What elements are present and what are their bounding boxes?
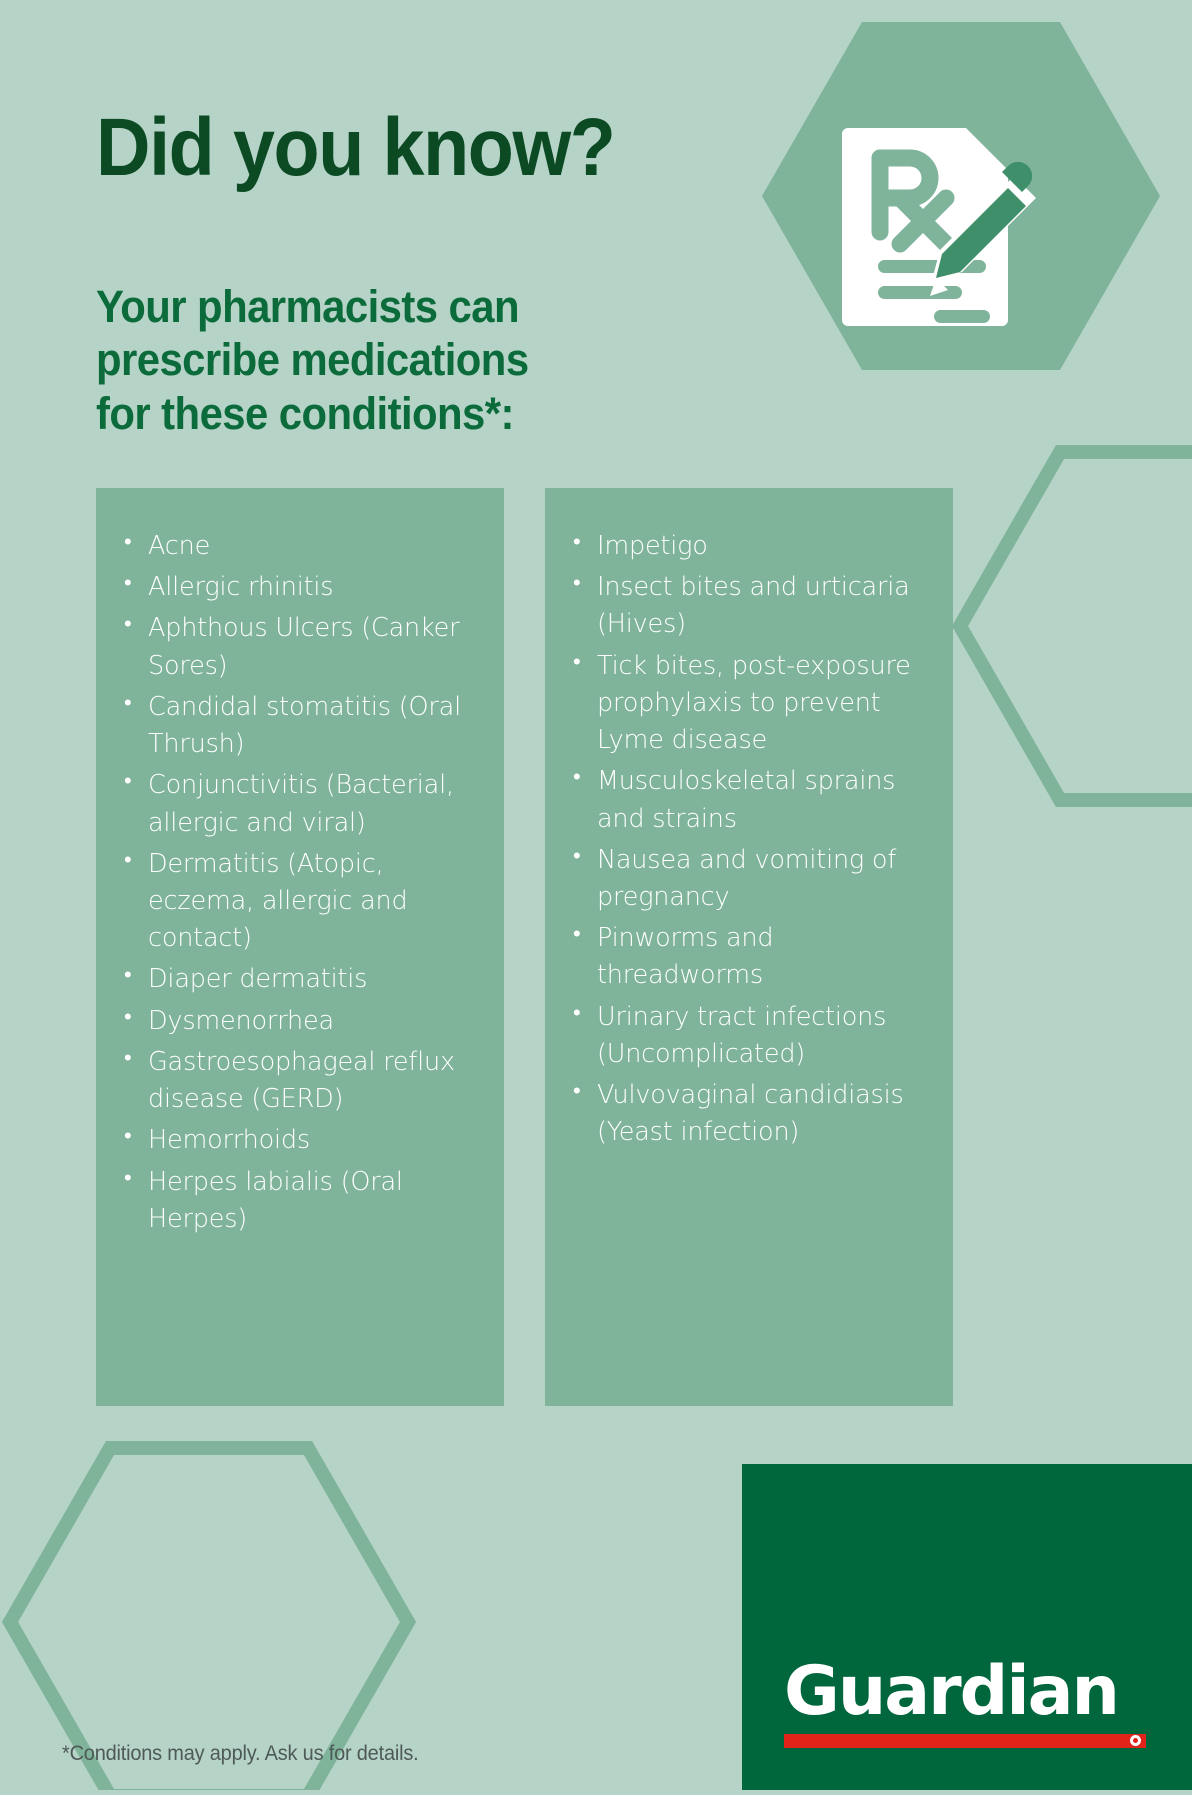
- list-item: Acne: [122, 528, 482, 565]
- conditions-list-left: Acne Allergic rhinitis Aphthous Ulcers (…: [96, 488, 504, 1238]
- list-item: Tick bites, post-exposure prophylaxis to…: [571, 648, 931, 760]
- list-item: Insect bites and urticaria (Hives): [571, 569, 931, 643]
- list-item: Musculoskeletal sprains and strains: [571, 763, 931, 837]
- footnote-text: *Conditions may apply. Ask us for detail…: [62, 1742, 418, 1766]
- guardian-logo-bar: [784, 1734, 1146, 1748]
- list-item: Gastroesophageal reflux disease (GERD): [122, 1044, 482, 1118]
- list-item: Urinary tract infections (Uncomplicated): [571, 999, 931, 1073]
- guardian-logo-inner: Guardian: [784, 1660, 1146, 1748]
- document-line-2: [878, 286, 962, 299]
- list-item: Herpes labialis (Oral Herpes): [122, 1164, 482, 1238]
- hexagon-outline-right: [960, 452, 1192, 800]
- list-item: Pinworms and threadworms: [571, 920, 931, 994]
- conditions-panel-right: Impetigo Insect bites and urticaria (Hiv…: [545, 488, 953, 1406]
- subtitle-line-1: Your pharmacists can: [96, 281, 519, 332]
- poster-header: Did you know? Your pharmacists canprescr…: [96, 108, 756, 440]
- list-item: Hemorrhoids: [122, 1122, 482, 1159]
- page-title: Did you know?: [96, 108, 703, 188]
- list-item: Aphthous Ulcers (Canker Sores): [122, 610, 482, 684]
- list-item: Nausea and vomiting of pregnancy: [571, 842, 931, 916]
- list-item: Impetigo: [571, 528, 931, 565]
- hexagon-outline-bottom-left: [10, 1448, 408, 1790]
- subtitle-line-3: for these conditions*:: [96, 388, 514, 439]
- registered-trademark-icon: [1130, 1735, 1141, 1746]
- document-line-3: [934, 310, 990, 323]
- subtitle-line-2: prescribe medications: [96, 334, 529, 385]
- conditions-panel-left: Acne Allergic rhinitis Aphthous Ulcers (…: [96, 488, 504, 1406]
- guardian-logo: Guardian: [742, 1464, 1192, 1790]
- list-item: Dermatitis (Atopic, eczema, allergic and…: [122, 846, 482, 958]
- list-item: Conjunctivitis (Bacterial, allergic and …: [122, 767, 482, 841]
- list-item: Dysmenorrhea: [122, 1003, 482, 1040]
- list-item: Vulvovaginal candidiasis (Yeast infectio…: [571, 1077, 931, 1151]
- list-item: Diaper dermatitis: [122, 961, 482, 998]
- guardian-wordmark: Guardian: [784, 1660, 1146, 1725]
- list-item: Allergic rhinitis: [122, 569, 482, 606]
- page-subtitle: Your pharmacists canprescribe medication…: [96, 188, 710, 439]
- rx-prescription-icon: [838, 120, 1038, 330]
- conditions-list-right: Impetigo Insect bites and urticaria (Hiv…: [545, 488, 953, 1152]
- list-item: Candidal stomatitis (Oral Thrush): [122, 689, 482, 763]
